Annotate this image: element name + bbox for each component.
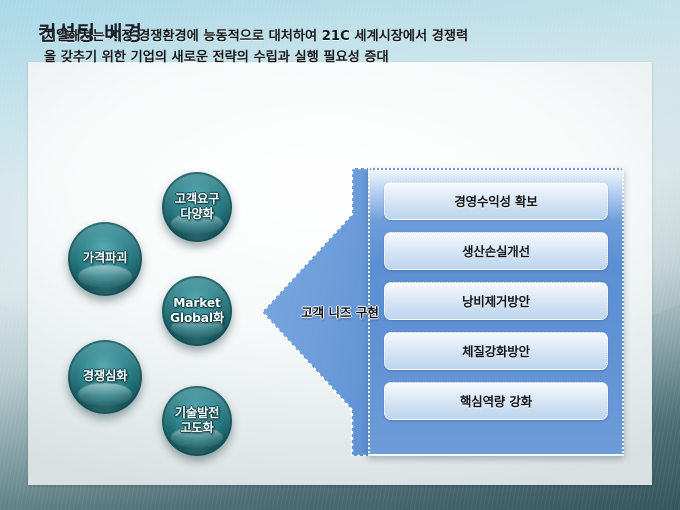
driver-orb-market-global[interactable]: Market Global화 <box>162 276 232 346</box>
outcome-box[interactable]: 핵심역량 강화 <box>384 382 608 420</box>
outcome-label: 핵심역량 강화 <box>460 392 532 410</box>
body-text-line-1: 치열해지는 시장 경쟁환경에 능동적으로 대처하여 21C 세계시장에서 경쟁력 <box>44 29 468 44</box>
driver-orb-competition[interactable]: 경쟁심화 <box>68 340 142 414</box>
outcome-label: 체질강화방안 <box>462 342 530 360</box>
outcome-label: 경영수익성 확보 <box>454 192 537 210</box>
driver-orb-label: Market Global화 <box>170 296 224 327</box>
outcome-box[interactable]: 생산손실개선 <box>384 232 608 270</box>
driver-orb-label: 가격파괴 <box>83 251 127 267</box>
driver-orb-label: 경쟁심화 <box>83 369 127 385</box>
arrow-label: 고객 니즈 구현 <box>275 302 405 321</box>
driver-orb-label: 고객요구 다양화 <box>175 192 219 223</box>
driver-orb-technology[interactable]: 기술발전 고도화 <box>162 386 232 456</box>
body-text: 치열해지는 시장 경쟁환경에 능동적으로 대처하여 21C 세계시장에서 경쟁력… <box>44 26 589 68</box>
driver-orb-customer-needs[interactable]: 고객요구 다양화 <box>162 172 232 242</box>
outcome-label: 생산손실개선 <box>462 242 530 260</box>
orb-gloss-highlight <box>78 265 133 288</box>
orb-gloss-highlight <box>78 383 133 406</box>
outcome-label: 낭비제거방안 <box>462 292 530 310</box>
outcome-box[interactable]: 경영수익성 확보 <box>384 182 608 220</box>
presentation-slide: 컨설팅 배경 치열해지는 시장 경쟁환경에 능동적으로 대처하여 21C 세계시… <box>0 0 680 510</box>
outcome-box[interactable]: 낭비제거방안 <box>384 282 608 320</box>
driver-orb-price-destruction[interactable]: 가격파괴 <box>68 222 142 296</box>
outcome-box[interactable]: 체질강화방안 <box>384 332 608 370</box>
outcomes-panel: 경영수익성 확보 생산손실개선 낭비제거방안 체질강화방안 핵심역량 강화 <box>368 168 624 456</box>
body-text-line-2: 올 갖추기 위한 기업의 새로운 전략의 수립과 실행 필요성 증대 <box>44 47 589 68</box>
driver-orb-label: 기술발전 고도화 <box>175 406 219 437</box>
